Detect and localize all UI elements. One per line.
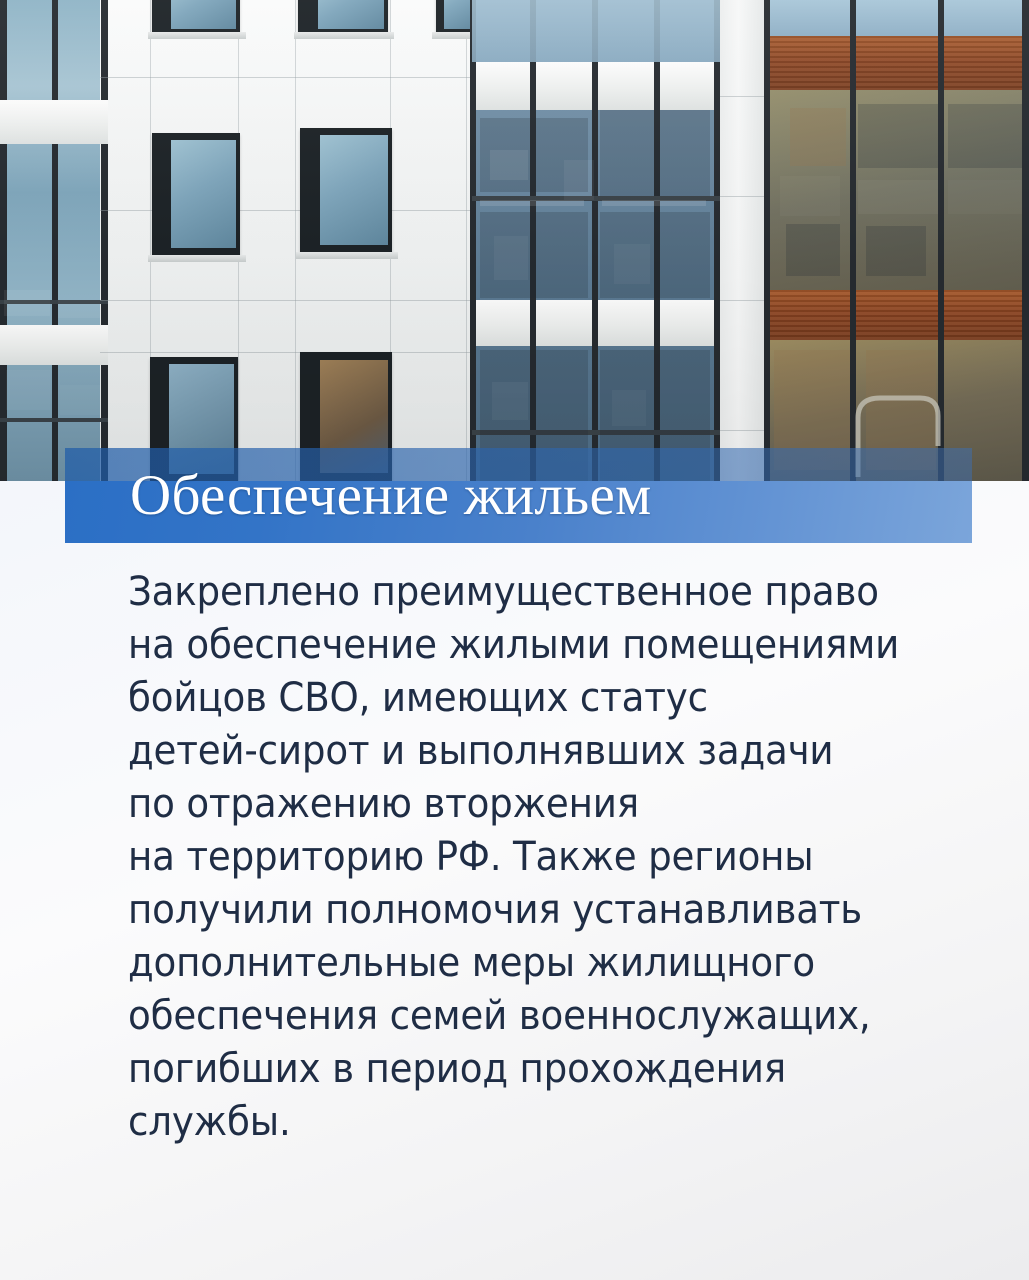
body-line: бойцов СВО, имеющих статус	[128, 672, 909, 725]
body-line: по отражению вторжения	[128, 778, 909, 831]
body-line: на обеспечение жилыми помещениями	[128, 619, 909, 672]
wood-cladding-band	[766, 290, 1029, 340]
photo-content	[0, 0, 1029, 481]
body-paragraph: Закреплено преимущественное право на обе…	[128, 566, 968, 1149]
page-title: Обеспечение жильем	[65, 452, 972, 538]
spandrel-band	[0, 325, 108, 365]
window	[152, 133, 240, 255]
facade-right-wood	[766, 0, 1029, 481]
body-line: дополнительные меры жилищного	[128, 937, 909, 990]
glass-curtain-left-mullions	[0, 0, 108, 481]
facade-pier	[720, 0, 766, 481]
window	[152, 0, 240, 32]
body-line: обеспечения семей военнослужащих,	[128, 990, 909, 1043]
body-line: службы.	[128, 1096, 909, 1149]
window	[300, 128, 392, 252]
building-photo	[0, 0, 1029, 481]
body-line: на территорию РФ. Также регионы	[128, 831, 909, 884]
wood-cladding-band	[766, 36, 1029, 90]
glass-curtain-center	[472, 0, 720, 481]
body-line: погибших в период прохождения	[128, 1043, 909, 1096]
body-line: Закреплено преимущественное право	[128, 566, 909, 619]
window	[436, 0, 472, 32]
window	[298, 0, 388, 32]
spandrel-band	[0, 100, 108, 144]
body-line: получили полномочия устанавливать	[128, 884, 909, 937]
body-line: детей-сирот и выполнявших задачи	[128, 725, 909, 778]
slide-canvas: Обеспечение жильем Закреплено преимущест…	[0, 0, 1029, 1280]
